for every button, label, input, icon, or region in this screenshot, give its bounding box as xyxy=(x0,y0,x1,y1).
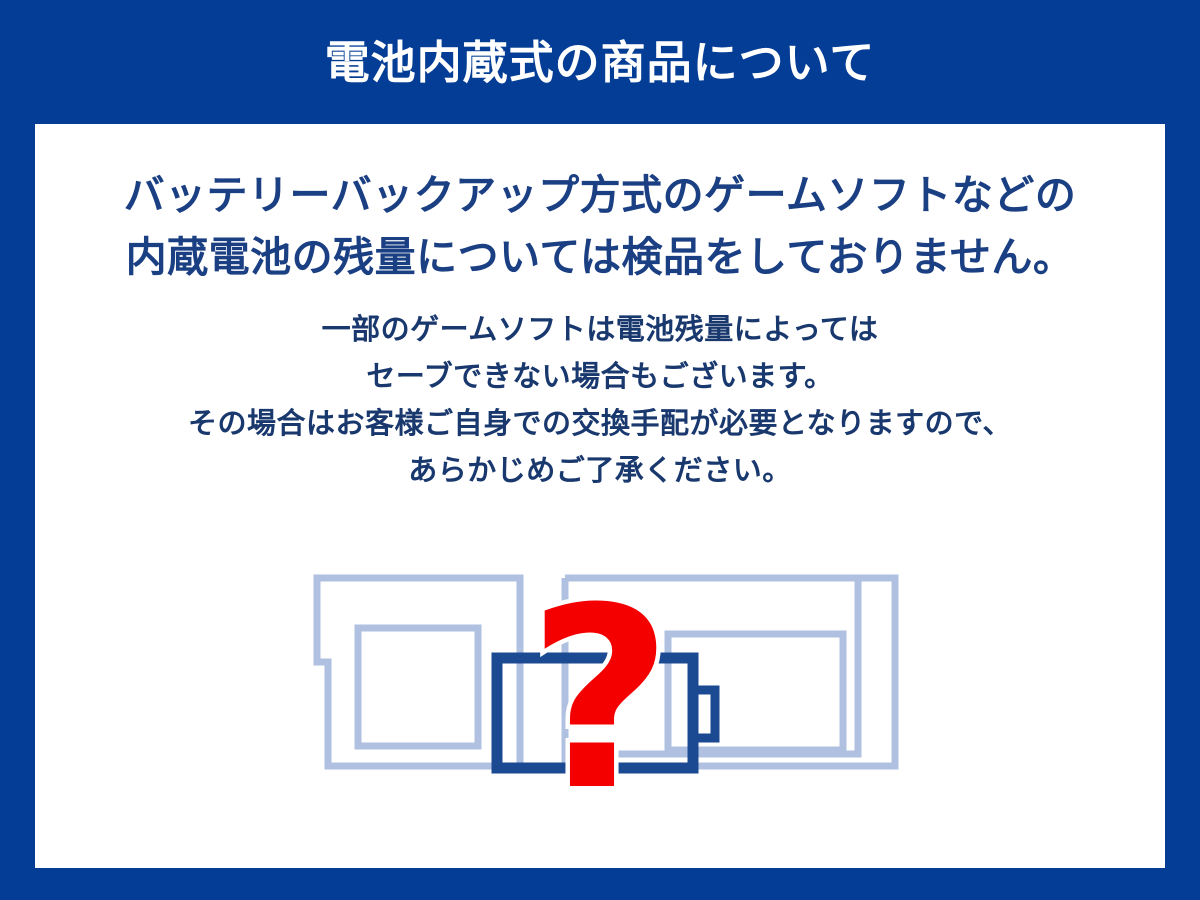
battery-terminal xyxy=(693,690,715,738)
headline-line-1: バッテリーバックアップ方式のゲームソフトなどの xyxy=(35,164,1165,226)
body-line-3: その場合はお客様ご自身での交換手配が必要となりますので、 xyxy=(35,400,1165,447)
headline-block: バッテリーバックアップ方式のゲームソフトなどの 内蔵電池の残量については検品をし… xyxy=(35,164,1165,288)
headline-highlight-2: 内蔵電池の残量については検品をしておりません。 xyxy=(126,226,1075,288)
headline-highlight-1: バッテリーバックアップ方式のゲームソフトなどの xyxy=(124,164,1077,226)
battery-cartridge-illustration: ? xyxy=(280,534,920,814)
body-line-1: 一部のゲームソフトは電池残量によっては xyxy=(35,306,1165,353)
cartridge-left-body xyxy=(317,578,520,766)
header-band: 電池内蔵式の商品について xyxy=(0,0,1200,124)
question-mark-icon: ? xyxy=(527,554,672,814)
cartridge-left-label xyxy=(358,628,478,746)
slide-root: 電池内蔵式の商品について バッテリーバックアップ方式のゲームソフトなどの 内蔵電… xyxy=(0,0,1200,900)
body-line-2: セーブできない場合もございます。 xyxy=(35,353,1165,400)
body-paragraph: 一部のゲームソフトは電池残量によっては セーブできない場合もございます。 その場… xyxy=(35,306,1165,494)
content-panel: バッテリーバックアップ方式のゲームソフトなどの 内蔵電池の残量については検品をし… xyxy=(35,124,1165,868)
headline-line-2: 内蔵電池の残量については検品をしておりません。 xyxy=(35,226,1165,288)
game-cartridge-left-icon xyxy=(317,578,520,766)
page-title: 電池内蔵式の商品について xyxy=(325,40,876,85)
question-mark-glyph: ? xyxy=(527,554,672,814)
illustration-svg: ? xyxy=(280,534,920,814)
body-line-4: あらかじめご了承ください。 xyxy=(35,447,1165,494)
